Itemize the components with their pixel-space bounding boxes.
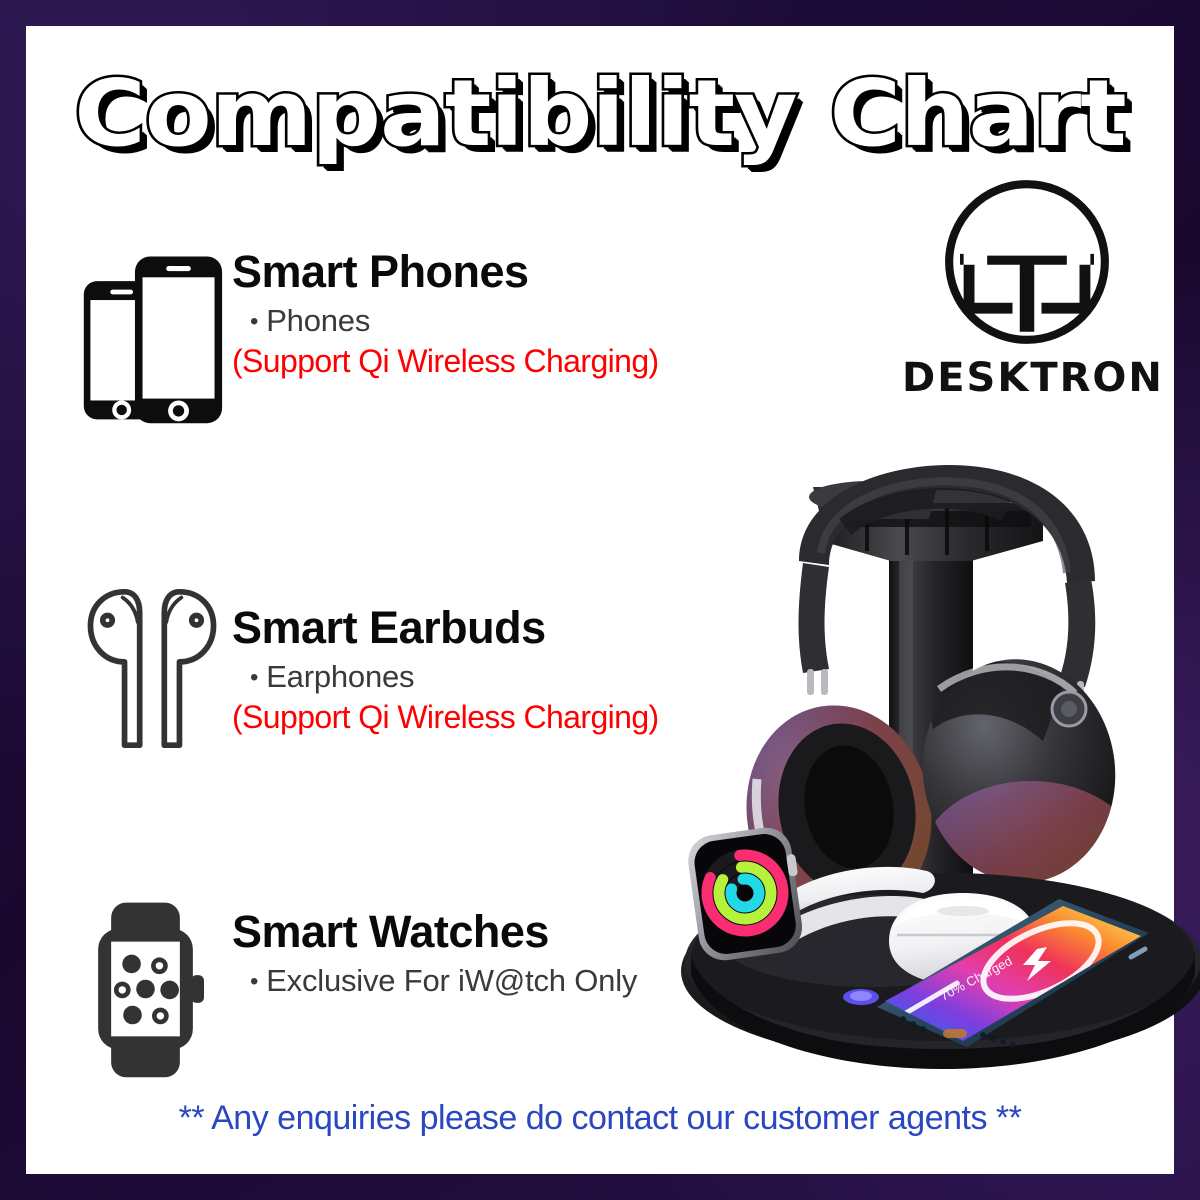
product-photo: 70% Charged	[671, 441, 1200, 1081]
smart-watches-texts: Smart Watches •Exclusive For iW@tch Only	[232, 896, 637, 999]
brand-logo: DESKTRON	[902, 176, 1152, 401]
page-title: Compatibility Chart	[74, 68, 1125, 160]
section-bullet-smart-earbuds: •Earphones	[250, 659, 659, 695]
section-heading-smart-earbuds: Smart Earbuds	[232, 604, 659, 651]
section-heading-smart-watches: Smart Watches	[232, 908, 637, 955]
brand-name: DESKTRON	[902, 355, 1152, 401]
section-bullet-smart-phones: •Phones	[250, 303, 659, 339]
smart-phones-texts: Smart Phones •Phones (Support Qi Wireles…	[232, 244, 659, 380]
section-heading-smart-phones: Smart Phones	[232, 248, 659, 295]
smart-earbuds-texts: Smart Earbuds •Earphones (Support Qi Wir…	[232, 586, 659, 736]
section-bullet-smart-watches: •Exclusive For iW@tch Only	[250, 963, 637, 999]
bullet-marker: •	[250, 308, 258, 335]
bullet-marker: •	[250, 968, 258, 995]
bullet-text: Earphones	[266, 659, 414, 694]
footer-note: ** Any enquiries please do contact our c…	[26, 1099, 1174, 1138]
bullet-text: Phones	[266, 303, 370, 338]
desktron-circle-logo	[927, 176, 1127, 348]
feature-row-smart-phones: Smart Phones •Phones (Support Qi Wireles…	[72, 244, 659, 429]
feature-row-smart-watches: Smart Watches •Exclusive For iW@tch Only	[72, 896, 637, 1081]
bullet-text: Exclusive For iW@tch Only	[266, 963, 637, 998]
bullet-marker: •	[250, 664, 258, 691]
earbuds-icon	[72, 586, 232, 751]
section-note-smart-phones: (Support Qi Wireless Charging)	[232, 343, 659, 380]
page-title-container: Compatibility Chart	[26, 68, 1174, 188]
poster-card: Compatibility Chart	[26, 26, 1174, 1174]
poster-background: Compatibility Chart	[0, 0, 1200, 1200]
smartwatch-icon	[72, 896, 232, 1081]
section-note-smart-earbuds: (Support Qi Wireless Charging)	[232, 699, 659, 736]
feature-row-smart-earbuds: Smart Earbuds •Earphones (Support Qi Wir…	[72, 586, 659, 751]
smartphones-icon	[72, 244, 232, 429]
